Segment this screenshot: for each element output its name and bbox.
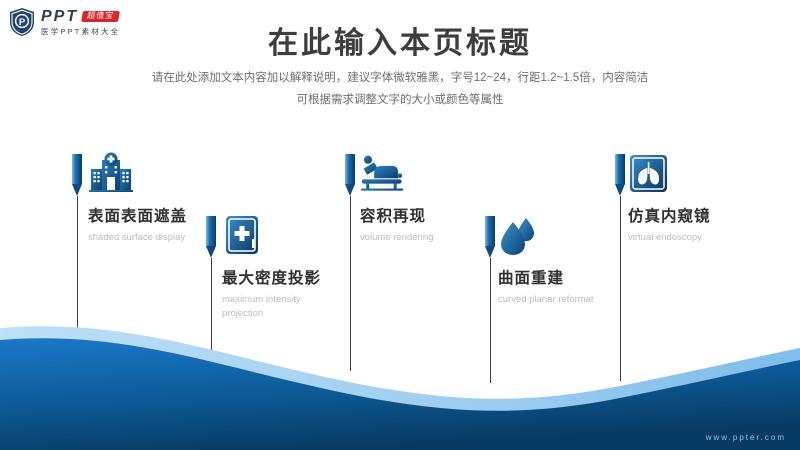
feature-title-cn: 最大密度投影 [222,266,321,288]
feature-item-4[interactable]: 曲面重建 curved planar reformat [498,214,594,307]
hospital-icon [88,152,134,194]
pin-marker-2 [206,216,216,258]
pin-tip [485,246,495,258]
feature-title-cn: 表面表面遮盖 [88,204,187,226]
feature-item-5[interactable]: 仿真内窥镜 virtual endoscopy [628,152,711,245]
pin-bar [345,154,355,184]
page-subtitle: 请在此处添加文本内容加以解释说明，建议字体微软雅黑，字号12~24，行距1.2~… [100,68,700,112]
medical-book-cross-icon [222,214,268,256]
pin-bar [72,154,82,184]
subtitle-line-1: 请在此处添加文本内容加以解释说明，建议字体微软雅黑，字号12~24，行距1.2~… [100,68,700,90]
feature-item-2[interactable]: 最大密度投影 maximum intensity projection [222,214,321,322]
feature-title-cn: 容积再现 [360,204,433,226]
footer-url: www.ppter.com [706,433,786,442]
lungs-frame-icon [628,152,674,194]
slide-canvas: P PPT 超值宝 医学PPT素材大全 在此输入本页标题 请在此处添加文本内容加… [0,0,800,450]
feature-title-en: shaded surface display [88,231,187,245]
pin-tip [345,184,355,196]
feature-title-cn: 仿真内窥镜 [628,204,711,226]
ct-scanner-patient-icon [360,152,406,194]
feature-item-3[interactable]: 容积再现 volume rendering [360,152,433,245]
pin-marker-4 [485,216,495,258]
decorative-wave [0,310,800,450]
pin-tip [615,184,625,196]
feature-title-cn: 曲面重建 [498,266,594,288]
feature-title-en: virtual endoscopy [628,231,711,245]
feature-title-en: volume rendering [360,231,433,245]
feature-title-en: curved planar reformat [498,293,594,307]
pin-marker-3 [345,154,355,196]
feature-item-1[interactable]: 表面表面遮盖 shaded surface display [88,152,187,245]
pin-tip [206,246,216,258]
pin-tip [72,184,82,196]
pin-marker-1 [72,154,82,196]
pin-bar [206,216,216,246]
page-title: 在此输入本页标题 [0,18,800,62]
pin-bar [485,216,495,246]
pin-marker-5 [615,154,625,196]
water-droplets-icon [498,214,544,256]
subtitle-line-2: 可根据需求调整文字的大小或颜色等属性 [100,90,700,112]
pin-bar [615,154,625,184]
